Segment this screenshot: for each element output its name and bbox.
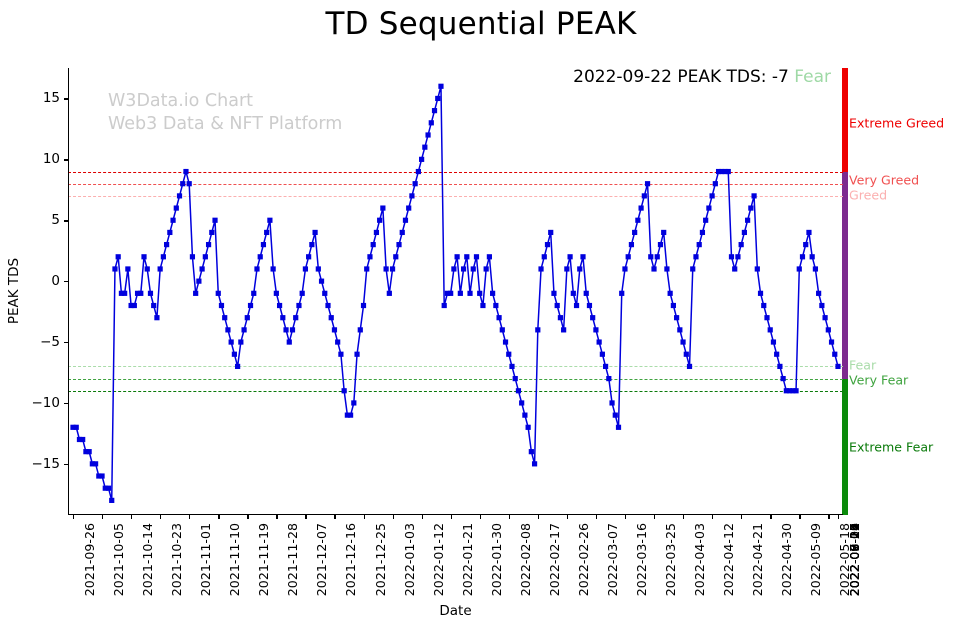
chart-page: TD Sequential PEAK W3Data.io Chart Web3 … <box>0 0 962 633</box>
extreme-fear-zone-label: Extreme Fear <box>849 439 933 454</box>
x-tick-mark <box>334 515 335 519</box>
x-tick-label: 2022-01-30 <box>489 523 504 596</box>
data-point-marker <box>419 157 424 162</box>
data-point-marker <box>216 291 221 296</box>
data-point-marker <box>484 266 489 271</box>
x-tick-mark <box>712 515 713 519</box>
series-markers <box>70 84 840 503</box>
data-point-marker <box>309 242 314 247</box>
data-point-marker <box>700 230 705 235</box>
x-tick-label: 2021-10-23 <box>169 523 184 596</box>
data-point-marker <box>306 254 311 259</box>
data-point-marker <box>196 279 201 284</box>
x-tick-label: 2021-10-14 <box>140 523 155 596</box>
x-tick-mark <box>218 515 219 519</box>
data-point-marker <box>529 449 534 454</box>
plot-area: W3Data.io Chart Web3 Data & NFT Platform… <box>68 68 843 515</box>
data-point-marker <box>99 473 104 478</box>
data-point-marker <box>764 315 769 320</box>
data-point-marker <box>567 254 572 259</box>
data-point-marker <box>555 303 560 308</box>
data-point-marker <box>312 230 317 235</box>
data-point-marker <box>300 291 305 296</box>
data-point-marker <box>545 242 550 247</box>
data-point-marker <box>829 339 834 344</box>
data-point-marker <box>367 254 372 259</box>
data-point-marker <box>758 291 763 296</box>
x-axis-spine <box>68 514 843 515</box>
y-tick-label: 10 <box>43 151 60 167</box>
data-point-marker <box>435 96 440 101</box>
x-tick-label: 2021-11-01 <box>198 523 213 596</box>
data-point-marker <box>458 291 463 296</box>
data-point-marker <box>425 132 430 137</box>
x-tick-label: 2022-03-07 <box>605 523 620 596</box>
x-tick-label: 2021-12-16 <box>343 523 358 596</box>
data-point-marker <box>542 254 547 259</box>
data-point-marker <box>645 181 650 186</box>
x-tick-label: 2022-04-30 <box>779 523 794 596</box>
x-tick-label: 2022-02-26 <box>576 523 591 596</box>
data-point-marker <box>535 327 540 332</box>
data-point-marker <box>519 400 524 405</box>
data-point-marker <box>280 315 285 320</box>
data-point-marker <box>413 181 418 186</box>
data-point-marker <box>635 218 640 223</box>
data-point-marker <box>287 339 292 344</box>
data-point-marker <box>267 218 272 223</box>
data-point-marker <box>432 108 437 113</box>
x-tick-label: 2021-12-07 <box>314 523 329 596</box>
x-tick-mark <box>451 515 452 519</box>
data-point-marker <box>429 120 434 125</box>
data-point-marker <box>151 303 156 308</box>
y-tick-mark <box>64 220 68 221</box>
data-point-marker <box>293 315 298 320</box>
data-point-marker <box>735 254 740 259</box>
data-point-marker <box>742 230 747 235</box>
data-point-marker <box>229 339 234 344</box>
data-point-marker <box>261 242 266 247</box>
x-tick-label: 2021-11-10 <box>227 523 242 596</box>
data-point-marker <box>626 254 631 259</box>
data-point-marker <box>810 254 815 259</box>
data-point-marker <box>87 449 92 454</box>
data-point-marker <box>329 315 334 320</box>
data-point-marker <box>609 400 614 405</box>
data-point-marker <box>141 254 146 259</box>
y-tick-label: 5 <box>51 212 60 228</box>
data-point-marker <box>658 242 663 247</box>
x-tick-label: 2022-02-17 <box>547 523 562 596</box>
x-tick-mark <box>683 515 684 519</box>
data-point-marker <box>819 303 824 308</box>
data-point-marker <box>271 266 276 271</box>
data-point-marker <box>619 291 624 296</box>
data-point-marker <box>277 303 282 308</box>
data-point-marker <box>835 364 840 369</box>
y-tick-label: 0 <box>51 273 60 289</box>
data-point-marker <box>316 266 321 271</box>
data-point-marker <box>322 291 327 296</box>
x-tick-mark <box>305 515 306 519</box>
data-point-marker <box>158 266 163 271</box>
data-point-marker <box>564 266 569 271</box>
data-point-marker <box>116 254 121 259</box>
x-tick-mark <box>276 515 277 519</box>
x-tick-label: 2021-09-26 <box>82 523 97 596</box>
data-point-marker <box>258 254 263 259</box>
y-tick-mark <box>64 159 68 160</box>
x-tick-mark <box>509 515 510 519</box>
data-point-marker <box>603 364 608 369</box>
x-tick-mark <box>102 515 103 519</box>
y-tick-label: −5 <box>40 334 60 350</box>
x-tick-mark <box>393 515 394 519</box>
y-tick-label: −15 <box>32 456 61 472</box>
data-point-marker <box>629 242 634 247</box>
x-tick-label: 2021-11-19 <box>256 523 271 596</box>
y-tick-mark <box>64 98 68 99</box>
data-point-marker <box>384 266 389 271</box>
data-point-marker <box>506 352 511 357</box>
data-point-marker <box>442 303 447 308</box>
x-axis-label: Date <box>68 603 843 619</box>
data-point-marker <box>584 291 589 296</box>
data-point-marker <box>797 266 802 271</box>
data-point-marker <box>390 266 395 271</box>
data-point-marker <box>590 315 595 320</box>
data-point-marker <box>164 242 169 247</box>
x-tick-mark <box>422 515 423 519</box>
data-point-marker <box>493 303 498 308</box>
data-point-marker <box>781 376 786 381</box>
data-point-marker <box>200 266 205 271</box>
x-tick-label: 2022-01-03 <box>402 523 417 596</box>
data-point-marker <box>726 169 731 174</box>
data-point-marker <box>613 413 618 418</box>
data-point-marker <box>803 242 808 247</box>
data-point-marker <box>655 254 660 259</box>
data-point-marker <box>248 303 253 308</box>
data-point-marker <box>371 242 376 247</box>
data-point-marker <box>387 291 392 296</box>
data-point-marker <box>455 254 460 259</box>
data-point-marker <box>816 291 821 296</box>
data-point-marker <box>170 218 175 223</box>
data-point-marker <box>513 376 518 381</box>
x-tick-mark <box>838 515 839 519</box>
data-point-marker <box>503 339 508 344</box>
data-point-marker <box>238 339 243 344</box>
data-point-marker <box>461 266 466 271</box>
data-point-marker <box>548 230 553 235</box>
data-point-marker <box>632 230 637 235</box>
data-point-marker <box>251 291 256 296</box>
data-point-marker <box>487 254 492 259</box>
fear-side-label: Fear <box>849 358 876 373</box>
x-tick-mark <box>73 515 74 519</box>
data-point-marker <box>713 181 718 186</box>
x-tick-mark <box>480 515 481 519</box>
data-point-marker <box>474 254 479 259</box>
data-point-marker <box>274 291 279 296</box>
data-point-marker <box>664 266 669 271</box>
data-point-marker <box>774 352 779 357</box>
data-point-marker <box>358 327 363 332</box>
data-point-marker <box>438 84 443 89</box>
data-point-marker <box>448 291 453 296</box>
data-point-marker <box>296 303 301 308</box>
data-point-marker <box>187 181 192 186</box>
data-point-marker <box>739 242 744 247</box>
x-tick-label: 2022-01-21 <box>460 523 475 596</box>
data-series-plot <box>68 68 843 515</box>
data-point-marker <box>496 315 501 320</box>
data-point-marker <box>203 254 208 259</box>
data-point-marker <box>225 327 230 332</box>
y-tick-label: −10 <box>32 395 61 411</box>
x-tick-label: 2022-09-21 <box>847 523 862 596</box>
data-point-marker <box>832 352 837 357</box>
x-tick-label: 2022-03-16 <box>634 523 649 596</box>
data-point-marker <box>245 315 250 320</box>
data-point-marker <box>206 242 211 247</box>
data-point-marker <box>729 254 734 259</box>
data-point-marker <box>177 193 182 198</box>
data-point-marker <box>768 327 773 332</box>
x-tick-mark <box>625 515 626 519</box>
data-point-marker <box>703 218 708 223</box>
data-point-marker <box>732 266 737 271</box>
data-point-marker <box>587 303 592 308</box>
data-point-marker <box>690 266 695 271</box>
data-point-marker <box>522 413 527 418</box>
data-point-marker <box>180 181 185 186</box>
data-point-marker <box>558 315 563 320</box>
data-point-marker <box>335 339 340 344</box>
data-point-marker <box>813 266 818 271</box>
data-point-marker <box>154 315 159 320</box>
data-point-marker <box>471 266 476 271</box>
data-point-marker <box>800 254 805 259</box>
y-tick-mark <box>64 281 68 282</box>
data-point-marker <box>480 303 485 308</box>
data-point-marker <box>264 230 269 235</box>
data-point-marker <box>697 242 702 247</box>
data-point-marker <box>516 388 521 393</box>
data-point-marker <box>377 218 382 223</box>
x-tick-label: 2022-01-12 <box>431 523 446 596</box>
x-tick-label: 2021-12-25 <box>373 523 388 596</box>
x-tick-label: 2022-05-09 <box>808 523 823 596</box>
y-tick-label: 15 <box>43 90 60 106</box>
data-point-marker <box>167 230 172 235</box>
data-point-marker <box>183 169 188 174</box>
data-point-marker <box>526 425 531 430</box>
x-tick-label: 2021-11-28 <box>285 523 300 596</box>
data-point-marker <box>132 303 137 308</box>
data-point-marker <box>93 461 98 466</box>
data-point-marker <box>290 327 295 332</box>
data-point-marker <box>122 291 127 296</box>
data-point-marker <box>374 230 379 235</box>
data-point-marker <box>303 266 308 271</box>
page-title: TD Sequential PEAK <box>0 6 962 42</box>
x-tick-mark <box>189 515 190 519</box>
data-point-marker <box>283 327 288 332</box>
data-point-marker <box>822 315 827 320</box>
data-point-marker <box>319 279 324 284</box>
data-point-marker <box>232 352 237 357</box>
data-point-marker <box>400 230 405 235</box>
data-point-marker <box>687 364 692 369</box>
y-tick-mark <box>64 464 68 465</box>
x-tick-label: 2022-04-12 <box>721 523 736 596</box>
data-point-marker <box>622 266 627 271</box>
data-point-marker <box>416 169 421 174</box>
data-point-marker <box>593 327 598 332</box>
data-point-marker <box>190 254 195 259</box>
data-point-marker <box>467 291 472 296</box>
data-point-marker <box>748 205 753 210</box>
data-point-marker <box>677 327 682 332</box>
data-point-marker <box>761 303 766 308</box>
x-tick-mark <box>741 515 742 519</box>
data-point-marker <box>826 327 831 332</box>
data-point-marker <box>600 352 605 357</box>
data-point-marker <box>532 461 537 466</box>
data-point-marker <box>538 266 543 271</box>
data-point-marker <box>806 230 811 235</box>
data-point-marker <box>364 266 369 271</box>
data-point-marker <box>551 291 556 296</box>
data-point-marker <box>755 266 760 271</box>
data-point-marker <box>490 291 495 296</box>
data-point-marker <box>674 315 679 320</box>
data-point-marker <box>651 266 656 271</box>
data-point-marker <box>464 254 469 259</box>
data-point-marker <box>348 413 353 418</box>
x-tick-label: 2022-04-03 <box>692 523 707 596</box>
data-point-marker <box>138 291 143 296</box>
x-tick-label: 2022-04-21 <box>750 523 765 596</box>
data-point-marker <box>235 364 240 369</box>
x-tick-mark <box>770 515 771 519</box>
data-point-marker <box>661 230 666 235</box>
data-point-marker <box>771 339 776 344</box>
data-point-marker <box>241 327 246 332</box>
data-point-marker <box>325 303 330 308</box>
data-point-marker <box>680 339 685 344</box>
very-fear-side-label: Very Fear <box>849 372 908 387</box>
data-point-marker <box>668 291 673 296</box>
data-point-marker <box>477 291 482 296</box>
data-point-marker <box>338 352 343 357</box>
x-tick-mark <box>596 515 597 519</box>
data-point-marker <box>193 291 198 296</box>
x-tick-mark <box>538 515 539 519</box>
x-tick-mark <box>160 515 161 519</box>
x-tick-mark <box>131 515 132 519</box>
data-point-marker <box>597 339 602 344</box>
data-point-marker <box>351 400 356 405</box>
greed-side-label: Greed <box>849 187 887 202</box>
y-tick-mark <box>64 403 68 404</box>
y-tick-mark <box>64 342 68 343</box>
data-point-marker <box>403 218 408 223</box>
data-point-marker <box>642 193 647 198</box>
data-point-marker <box>361 303 366 308</box>
x-tick-label: 2022-02-08 <box>518 523 533 596</box>
data-point-marker <box>145 266 150 271</box>
data-point-marker <box>396 242 401 247</box>
x-tick-label: 2022-03-25 <box>663 523 678 596</box>
data-point-marker <box>580 254 585 259</box>
x-tick-mark <box>364 515 365 519</box>
data-point-marker <box>561 327 566 332</box>
data-point-marker <box>393 254 398 259</box>
data-point-marker <box>109 498 114 503</box>
data-point-marker <box>693 254 698 259</box>
data-point-marker <box>574 303 579 308</box>
extreme-greed-zone-label: Extreme Greed <box>849 115 944 130</box>
y-axis-label: PEAK TDS <box>6 258 22 324</box>
data-point-marker <box>332 327 337 332</box>
data-point-marker <box>409 193 414 198</box>
data-point-marker <box>174 205 179 210</box>
data-point-marker <box>684 352 689 357</box>
data-point-marker <box>354 352 359 357</box>
data-point-marker <box>577 266 582 271</box>
data-point-marker <box>125 266 130 271</box>
data-point-marker <box>74 425 79 430</box>
data-point-marker <box>106 486 111 491</box>
data-point-marker <box>209 230 214 235</box>
data-point-marker <box>161 254 166 259</box>
x-tick-mark <box>247 515 248 519</box>
data-point-marker <box>777 364 782 369</box>
data-point-marker <box>342 388 347 393</box>
data-point-marker <box>112 266 117 271</box>
data-point-marker <box>212 218 217 223</box>
data-point-marker <box>219 303 224 308</box>
data-point-marker <box>793 388 798 393</box>
series-line <box>73 86 838 500</box>
x-tick-mark <box>828 515 829 519</box>
data-point-marker <box>745 218 750 223</box>
y-axis-spine <box>68 68 69 515</box>
x-tick-mark <box>799 515 800 519</box>
data-point-marker <box>571 291 576 296</box>
data-point-marker <box>222 315 227 320</box>
data-point-marker <box>422 145 427 150</box>
data-point-marker <box>509 364 514 369</box>
data-point-marker <box>500 327 505 332</box>
data-point-marker <box>648 254 653 259</box>
data-point-marker <box>639 205 644 210</box>
data-point-marker <box>380 205 385 210</box>
very-greed-side-label: Very Greed <box>849 173 919 188</box>
x-tick-mark <box>654 515 655 519</box>
data-point-marker <box>710 193 715 198</box>
data-point-marker <box>616 425 621 430</box>
data-point-marker <box>671 303 676 308</box>
data-point-marker <box>706 205 711 210</box>
x-tick-label: 2021-10-05 <box>111 523 126 596</box>
data-point-marker <box>606 376 611 381</box>
data-point-marker <box>80 437 85 442</box>
